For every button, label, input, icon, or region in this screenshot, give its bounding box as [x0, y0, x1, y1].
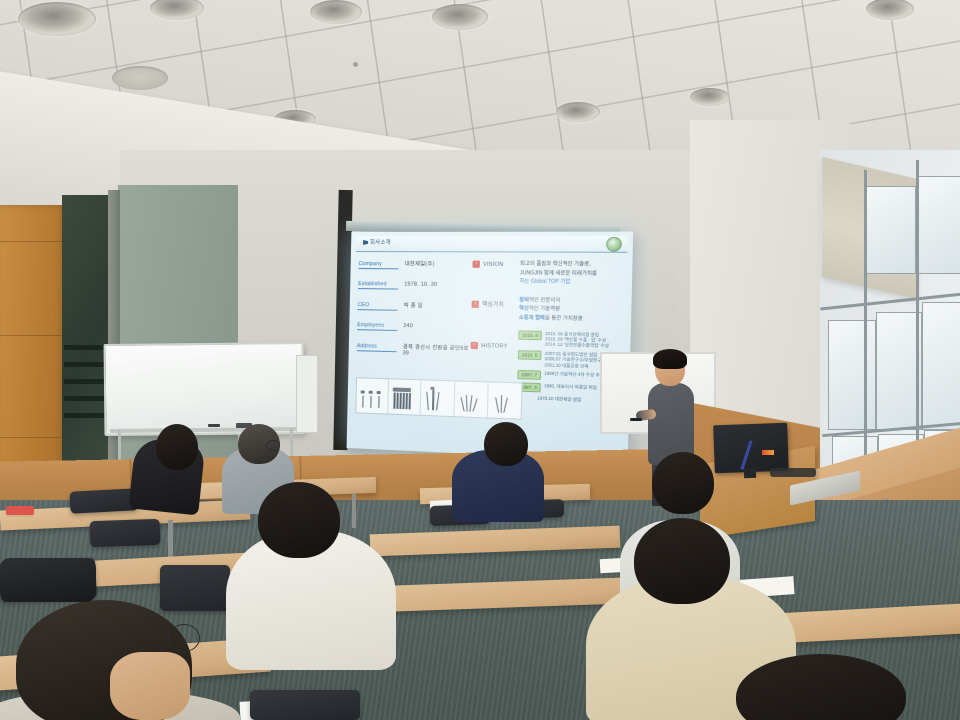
history-year-badge: 2010. 5 — [518, 350, 542, 360]
attendee-7-glasses — [168, 624, 200, 652]
projection-screen: 회사소개 Company 대한제일(주) Established 1978. 1… — [347, 232, 634, 462]
info-row: Company 대한제일(주) — [359, 260, 473, 269]
info-label: Established — [358, 281, 398, 289]
laser-pointer[interactable] — [630, 418, 642, 421]
slide-title: 회사소개 — [370, 238, 391, 246]
core-value-item: 소통과 협력을 통한 가치창출 — [519, 314, 628, 325]
window-pane — [922, 302, 960, 430]
core-value-key: 혁신 — [519, 306, 529, 312]
monitor-stand — [744, 468, 756, 478]
table-leg — [352, 494, 356, 528]
attendee-7-face — [110, 652, 190, 720]
section-label: 핵심가치 — [482, 300, 504, 309]
history-line: 1978.10 대한제일 설립 — [537, 395, 581, 402]
door-louver — [64, 379, 108, 384]
door-louver — [64, 396, 108, 401]
section-label: VISION — [483, 261, 504, 267]
slide-header: 회사소개 — [356, 236, 628, 253]
history-detail: 2007.01 중국청도법인 설립 2006.07 기술연구소/부설연구소 20… — [544, 351, 605, 370]
chair[interactable] — [90, 519, 161, 547]
chevron-right-icon: › — [472, 261, 479, 268]
door-louver — [64, 345, 108, 350]
chevron-right-icon: › — [472, 300, 479, 307]
downlight-icon — [690, 88, 730, 106]
downlight-icon — [310, 0, 362, 24]
info-row: CEO 박 종 일 — [358, 301, 472, 311]
downlight-icon — [556, 102, 600, 122]
vision-block: 최고의 품질과 혁신적인 기술로, JUNGJIN 함께 새로운 미래가치를 하… — [519, 260, 629, 288]
attendee-5-head — [634, 518, 730, 604]
history-line: 2014. 12 '일천만불수출의탑' 수상 — [545, 342, 609, 349]
vision-line: 최고의 품질과 혁신적인 기술로, — [520, 260, 629, 270]
black-bag — [0, 558, 96, 602]
history-year-badge: 2016. 8 — [518, 330, 542, 340]
section-label: HISTORY — [481, 343, 508, 350]
section-header-core-values: › 핵심가치 — [472, 300, 521, 309]
history-detail: 1998년 기술혁신 4차 수상 추진 — [544, 371, 604, 378]
info-label: CEO — [358, 302, 398, 310]
whiteboard — [104, 342, 305, 436]
door-louver — [64, 413, 108, 418]
info-value: 경북 경산시 진량읍 공단8로 39 — [403, 343, 471, 358]
seminar-room-photo: 회사소개 Company 대한제일(주) Established 1978. 1… — [0, 0, 960, 720]
info-value: 대한제일(주) — [405, 260, 435, 267]
window-pane — [918, 176, 960, 274]
info-row: Employees 240 — [357, 322, 471, 332]
core-value-rest: 적인 기술역량 — [529, 306, 560, 313]
product-image — [356, 378, 389, 413]
cables — [770, 468, 816, 477]
attendee-4-head — [258, 482, 340, 558]
presentation-slide: 회사소개 Company 대한제일(주) Established 1978. 1… — [347, 232, 634, 462]
info-label: Employees — [357, 322, 397, 330]
history-detail: 1978.10 대한제일 설립 — [537, 395, 581, 402]
core-values-block: 창의적인 전문의식 혁신적인 기술역량 소통과 협력을 통한 가치창출 — [519, 296, 629, 325]
section-header-vision: › VISION — [472, 261, 521, 269]
info-value: 박 종 일 — [404, 302, 423, 309]
history-detail: 1980. 대표이사 박종일 취임 — [544, 383, 597, 390]
info-label: Company — [359, 261, 399, 269]
history-line: 1998년 기술혁신 4차 수상 추진 — [544, 371, 604, 378]
history-line: 1980. 대표이사 박종일 취임 — [544, 383, 597, 390]
monitor-badge-icon — [762, 450, 774, 455]
presenter-monitor[interactable] — [713, 423, 789, 474]
product-image — [421, 380, 455, 416]
product-image — [454, 381, 488, 417]
chevron-right-icon: › — [471, 342, 478, 349]
info-value: 240 — [403, 323, 413, 329]
product-image-strip — [355, 377, 522, 420]
downlight-icon — [18, 2, 96, 36]
handout-paper — [6, 506, 34, 515]
core-value-rest: 을 통한 가치창출 — [545, 315, 583, 322]
product-image — [488, 382, 522, 418]
core-value-key: 소통과 협력 — [519, 315, 545, 322]
attendee-3-head — [484, 422, 528, 466]
history-entry: 2016. 8 2016. 06 중국상해지점 설립 2015. 09 '백만불… — [518, 330, 627, 349]
info-row: Established 1978. 10. 30 — [358, 281, 472, 290]
info-label: Address — [357, 343, 397, 352]
door-louver — [64, 362, 108, 367]
history-year-badge: 1997. 7 — [517, 370, 541, 380]
section-header-history: › HISTORY — [471, 342, 520, 350]
chair[interactable] — [250, 690, 360, 720]
attendee-2-glasses — [266, 440, 280, 451]
whiteboard-secondary — [296, 355, 318, 433]
sprinkler-icon — [353, 62, 358, 67]
product-image — [388, 379, 421, 415]
info-value: 1978. 10. 30 — [404, 282, 437, 288]
core-value-rest: 적인 전문의식 — [529, 297, 560, 304]
bullet-marker-icon — [363, 240, 368, 245]
vision-line: 하는 Global TOP 기업 — [519, 278, 628, 288]
ceiling-speaker-icon — [112, 66, 168, 90]
slide-body: Company 대한제일(주) Established 1978. 10. 30… — [352, 255, 627, 426]
chair[interactable] — [160, 565, 230, 611]
window-pane — [828, 320, 876, 430]
table-leg — [168, 520, 173, 560]
core-value-key: 창의 — [519, 297, 529, 303]
presenter-hair — [653, 349, 687, 369]
attendee-6-head — [652, 452, 714, 514]
company-info-table: Company 대한제일(주) Established 1978. 10. 30… — [356, 260, 472, 371]
whiteboard-marker[interactable] — [208, 424, 220, 427]
downlight-icon — [432, 4, 488, 30]
info-row: Address 경북 경산시 진량읍 공단8로 39 — [357, 342, 471, 358]
history-detail: 2016. 06 중국상해지점 설립 2015. 09 '백만불 수출 · 탑'… — [545, 330, 610, 348]
attendee-1-head — [156, 424, 198, 470]
slide-section-headers: › VISION › 핵심가치 › HISTORY — [471, 261, 522, 351]
history-line: 2001.10 대불공장 신축 — [544, 362, 588, 368]
company-logo-icon — [606, 237, 622, 252]
window-pane — [866, 186, 916, 274]
